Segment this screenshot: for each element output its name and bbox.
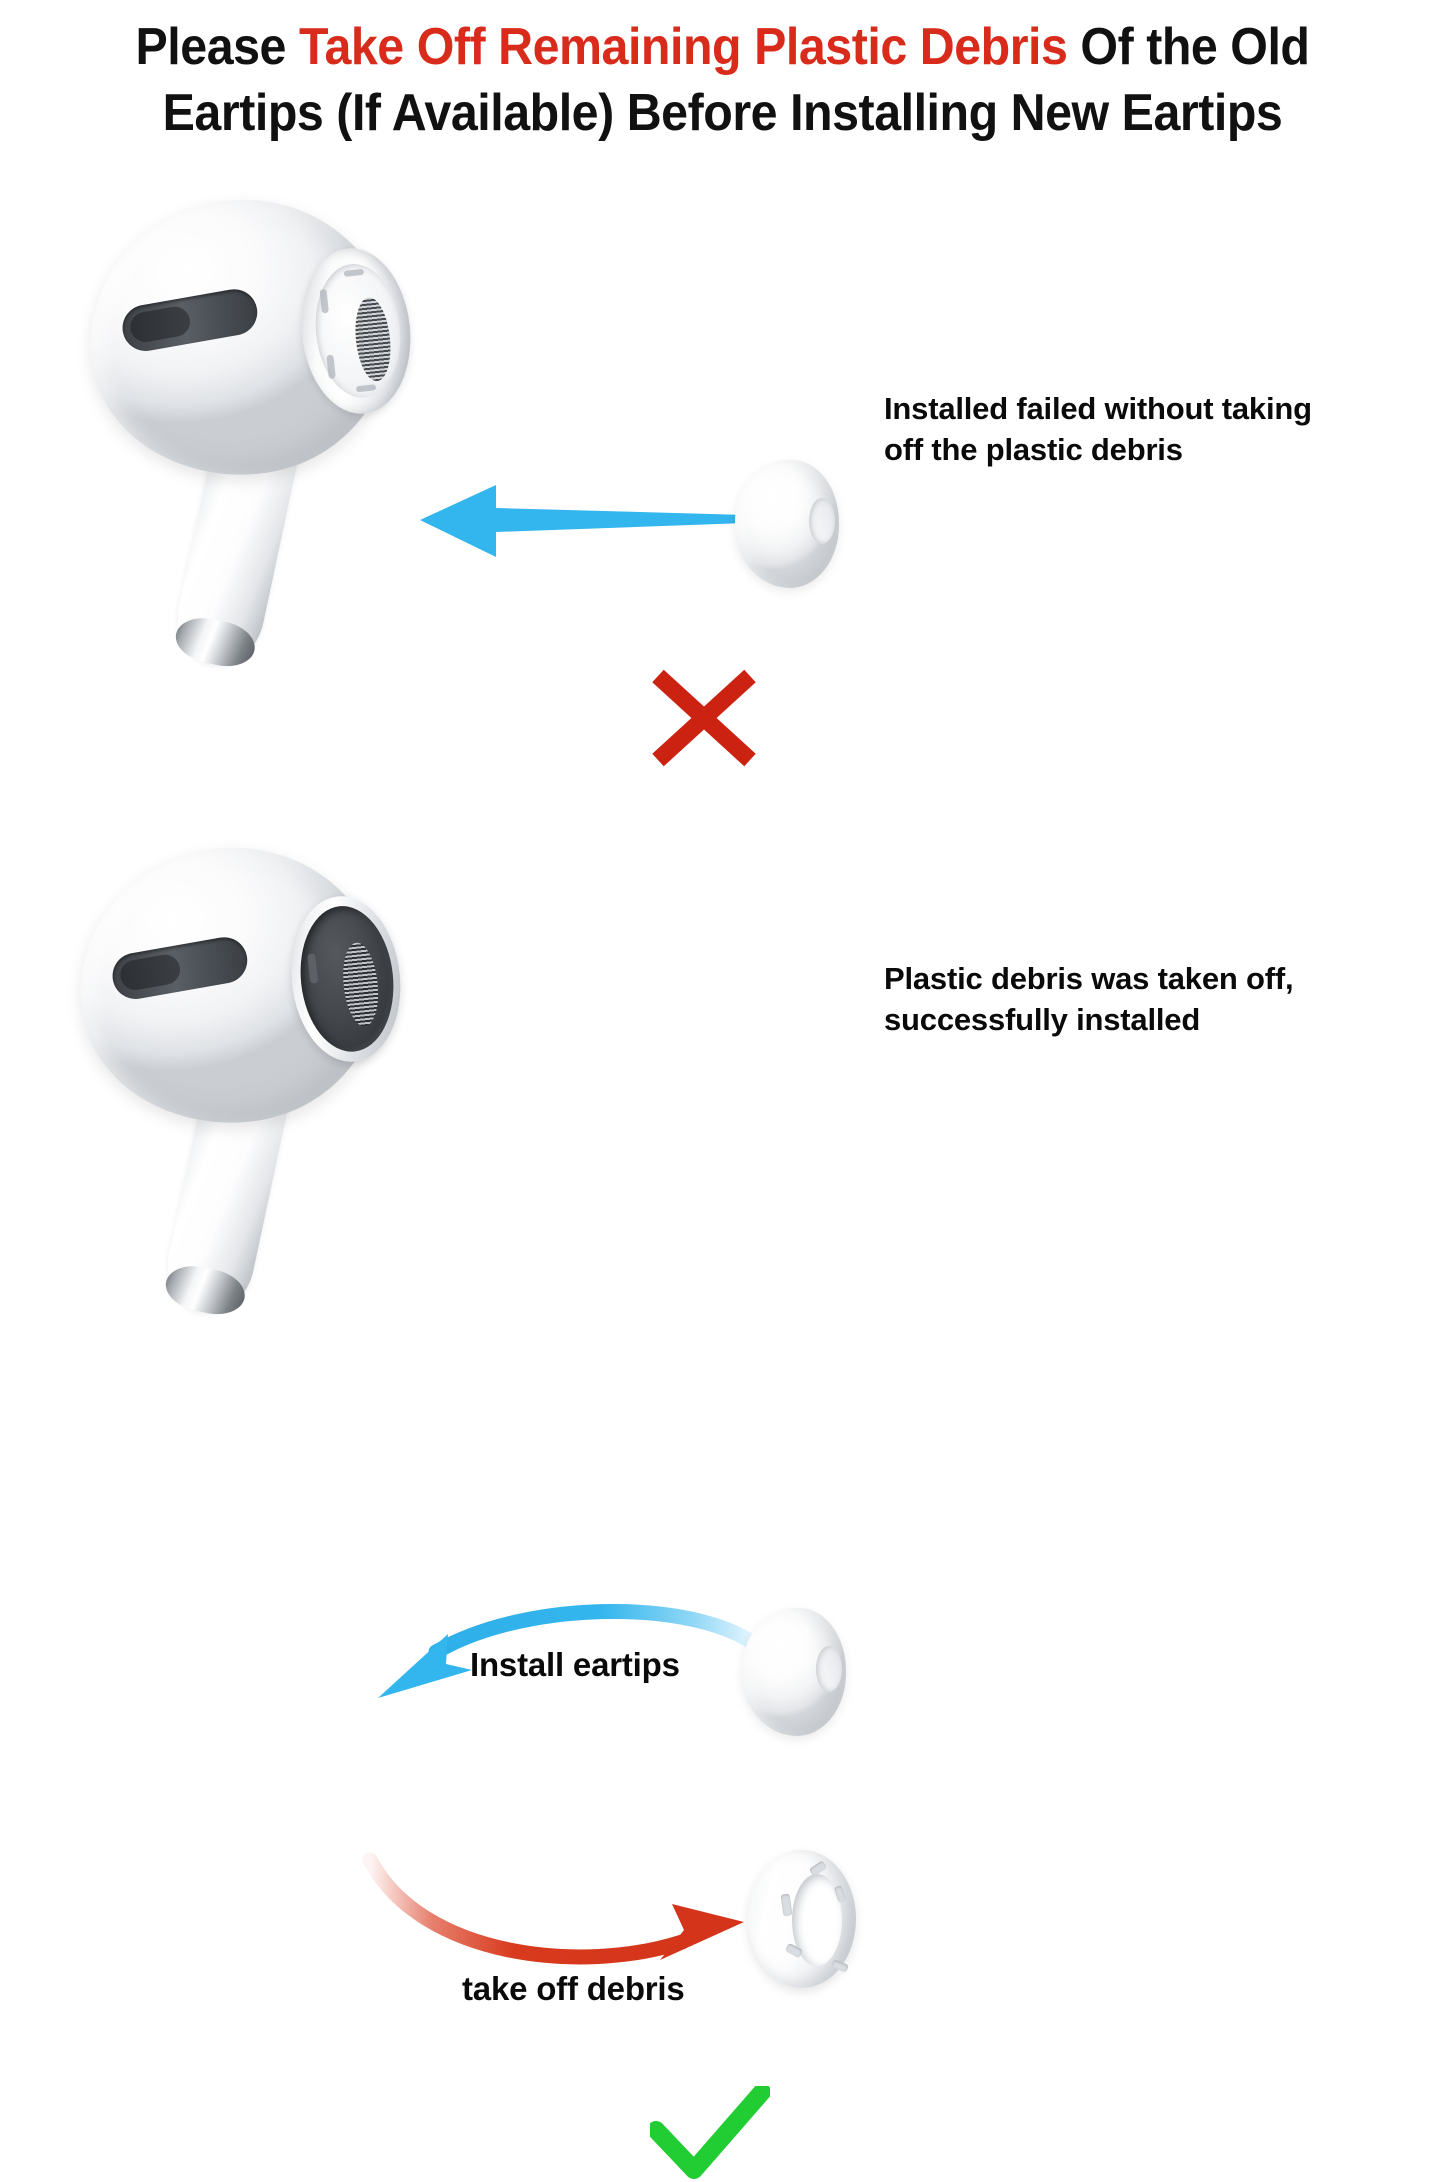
earbud-vent-icon <box>119 286 261 355</box>
success-caption-line2: successfully installed <box>884 999 1424 1040</box>
earbud-nozzle-clean <box>80 848 440 1318</box>
install-direction-arrow <box>418 475 748 567</box>
success-caption-line1: Plastic debris was taken off, <box>884 958 1424 999</box>
failed-caption-line1: Installed failed without taking <box>884 388 1424 429</box>
failed-caption: Installed failed without taking off the … <box>884 388 1424 470</box>
eartip-detached <box>742 1608 846 1736</box>
earbud-vent-icon <box>109 934 251 1003</box>
panel-install-failed: Installed failed without taking off the … <box>0 180 1445 700</box>
page-title: Please Take Off Remaining Plastic Debris… <box>51 14 1395 146</box>
speaker-mesh-icon <box>340 941 383 1028</box>
panel-install-success: Install eartips take off debris Plastic … <box>0 790 1445 1390</box>
take-off-debris-label: take off debris <box>462 1970 685 2008</box>
success-caption: Plastic debris was taken off, successful… <box>884 958 1424 1040</box>
title-highlight: Take Off Remaining Plastic Debris <box>299 18 1067 76</box>
take-off-debris-arrow <box>352 1838 772 1988</box>
earbud-with-debris <box>90 200 450 670</box>
install-eartips-label: Install eartips <box>470 1646 680 1684</box>
speaker-mesh-icon <box>351 296 394 383</box>
cross-mark-icon <box>648 668 760 768</box>
check-mark-icon <box>650 2086 770 2182</box>
plastic-debris-ring <box>748 1850 856 1988</box>
title-lead: Please <box>135 18 298 76</box>
failed-caption-line2: off the plastic debris <box>884 429 1424 470</box>
eartip-detached <box>735 460 839 588</box>
